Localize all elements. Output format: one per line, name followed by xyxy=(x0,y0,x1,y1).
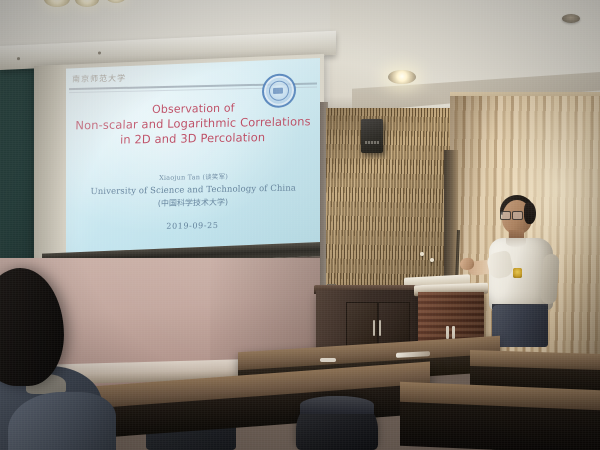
housing-screw xyxy=(17,57,20,60)
projection-screen: 南京师范大学 Observation of Non-scalar and Log… xyxy=(34,54,324,268)
front-desk-right-apron xyxy=(400,402,600,450)
housing-screw xyxy=(98,51,101,54)
presenter-left-arm xyxy=(540,254,559,305)
slide-date: 2019-09-25 xyxy=(66,219,319,232)
wall-speaker-icon xyxy=(361,119,383,153)
cabinet-handle xyxy=(452,326,455,339)
slide-affiliation-cn: (中国科学技术大学) xyxy=(66,195,320,210)
slide-title: Observation of Non-scalar and Logarithmi… xyxy=(66,99,320,148)
wall-fixture xyxy=(430,258,434,262)
smoke-detector-icon xyxy=(562,14,580,23)
glasses-icon xyxy=(500,211,522,219)
ceiling-spotlight-icon xyxy=(388,70,416,84)
screen-left-margin xyxy=(34,65,66,268)
presenter-hair-side xyxy=(524,202,536,224)
podium-handle xyxy=(379,320,381,336)
cabinet-handle xyxy=(446,326,449,339)
paper-on-table xyxy=(320,358,336,362)
chest-emblem-icon xyxy=(513,268,522,278)
wall-fixture xyxy=(420,252,424,256)
chalkboard xyxy=(0,62,38,284)
presenter-collar xyxy=(506,238,526,247)
slide-content: 南京师范大学 Observation of Non-scalar and Log… xyxy=(66,58,320,253)
chair-center-backrest xyxy=(300,396,374,414)
presenter-shorts xyxy=(492,305,548,347)
slide-university-header: 南京师范大学 xyxy=(72,73,126,85)
slide-author-block: Xiaojun Tan (谈笑军) University of Science … xyxy=(66,169,320,232)
lecture-hall-photo: 南京师范大学 Observation of Non-scalar and Log… xyxy=(0,0,600,450)
slide-author-name: Xiaojun Tan (谈笑军) xyxy=(67,169,320,183)
podium-handle xyxy=(373,320,375,336)
